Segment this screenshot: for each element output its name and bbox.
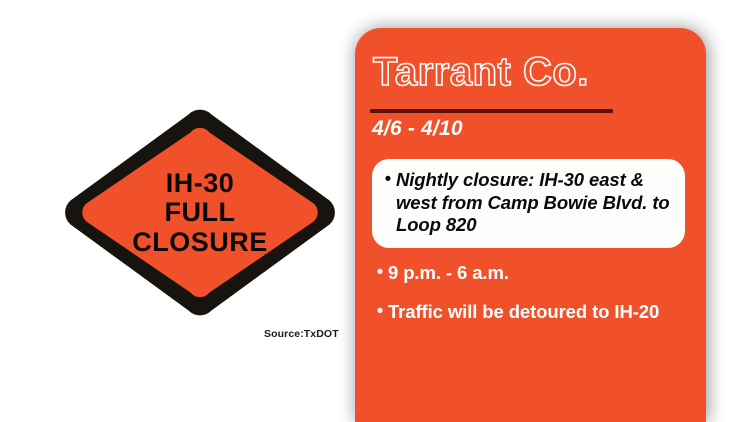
diamond-sign-icon <box>60 105 340 320</box>
callout-text: Nightly closure: IH-30 east & west from … <box>396 169 677 237</box>
bullet-item-detour: • Traffic will be detoured to IH-20 <box>372 300 692 323</box>
bullet-dot-icon: • <box>380 169 396 191</box>
tarrant-county-card: Tarrant Co. 4/6 - 4/10 • Nightly closure… <box>355 28 706 422</box>
bullet-dot-icon: • <box>372 300 388 323</box>
source-attribution: Source:TxDOT <box>264 328 339 340</box>
callout-bullet-row: • Nightly closure: IH-30 east & west fro… <box>380 169 677 237</box>
bullet-item-hours: • 9 p.m. - 6 a.m. <box>372 261 692 284</box>
highlighted-callout: • Nightly closure: IH-30 east & west fro… <box>372 159 685 248</box>
traffic-closure-graphic: IH-30 FULL CLOSURE Source:TxDOT Tarrant … <box>0 0 750 422</box>
card-title: Tarrant Co. <box>373 52 589 92</box>
bullet-hours-text: 9 p.m. - 6 a.m. <box>388 261 509 284</box>
construction-sign: IH-30 FULL CLOSURE <box>60 105 340 320</box>
date-range: 4/6 - 4/10 <box>372 117 463 141</box>
title-divider <box>370 109 613 113</box>
bullet-detour-text: Traffic will be detoured to IH-20 <box>388 300 659 323</box>
bullet-dot-icon: • <box>372 261 388 284</box>
